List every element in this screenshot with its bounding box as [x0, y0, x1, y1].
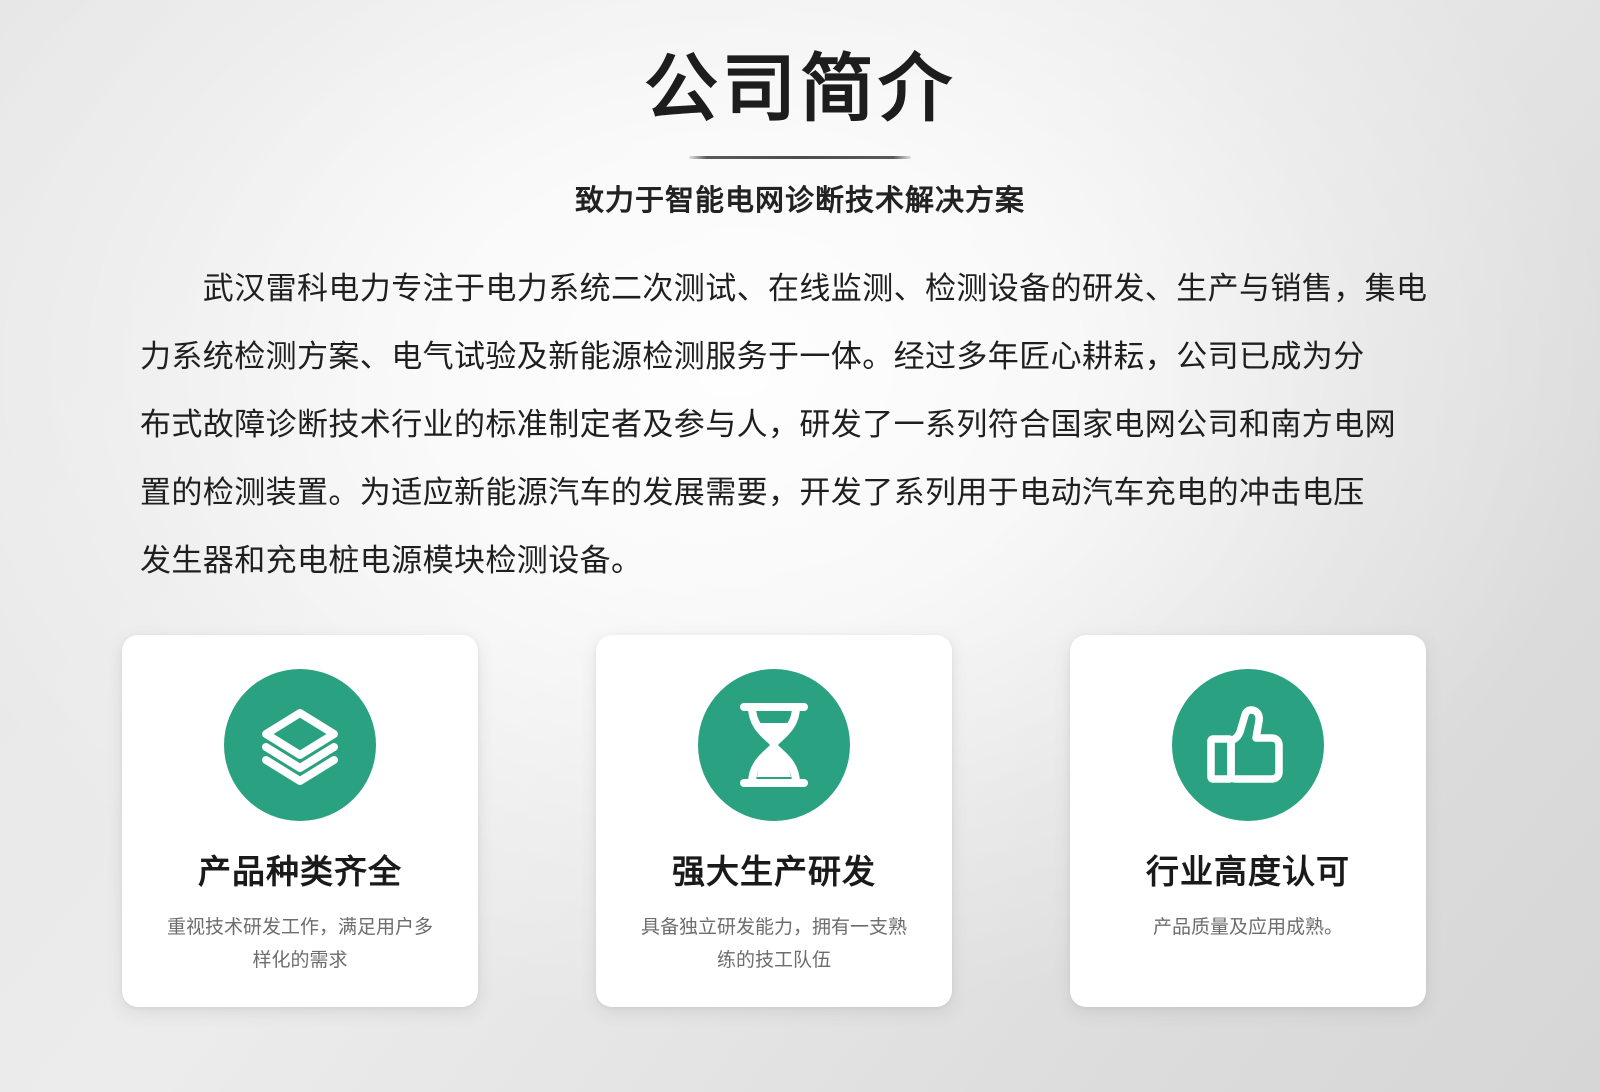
feature-card-description: 重视技术研发工作，满足用户多样化的需求: [161, 893, 439, 977]
hourglass-icon-badge: [698, 669, 850, 821]
intro-line: 置的检测装置。为适应新能源汽车的发展需要，开发了系列用于电动汽车充电的冲击电压: [140, 459, 1450, 527]
page-subtitle: 致力于智能电网诊断技术解决方案: [0, 159, 1600, 221]
company-intro-paragraph: 武汉雷科电力专注于电力系统二次测试、在线监测、检测设备的研发、生产与销售，集电 …: [140, 255, 1450, 595]
feature-card-title: 产品种类齐全: [198, 821, 402, 893]
intro-line: 发生器和充电桩电源模块检测设备。: [140, 527, 1450, 595]
feature-card-description: 产品质量及应用成熟。: [1109, 893, 1387, 944]
intro-line: 力系统检测方案、电气试验及新能源检测服务于一体。经过多年匠心耕耘，公司已成为分: [140, 323, 1450, 391]
feature-card-title: 行业高度认可: [1146, 821, 1350, 893]
feature-card-list: 产品种类齐全 重视技术研发工作，满足用户多样化的需求: [122, 635, 1426, 1007]
page-header: 公司简介 致力于智能电网诊断技术解决方案: [0, 0, 1600, 221]
feature-card-description: 具备独立研发能力，拥有一支熟练的技工队伍: [635, 893, 913, 977]
intro-line: 武汉雷科电力专注于电力系统二次测试、在线监测、检测设备的研发、生产与销售，集电: [140, 255, 1450, 323]
layers-icon-badge: [224, 669, 376, 821]
feature-card-products[interactable]: 产品种类齐全 重视技术研发工作，满足用户多样化的需求: [122, 635, 478, 1007]
thumbs-up-icon: [1202, 699, 1294, 791]
intro-line: 布式故障诊断技术行业的标准制定者及参与人，研发了一系列符合国家电网公司和南方电网: [140, 391, 1450, 459]
hourglass-icon: [730, 699, 818, 791]
page-title: 公司简介: [0, 0, 1600, 132]
company-profile-page: 公司简介 致力于智能电网诊断技术解决方案 武汉雷科电力专注于电力系统二次测试、在…: [0, 0, 1600, 1092]
layers-icon: [254, 699, 346, 791]
feature-card-rnd[interactable]: 强大生产研发 具备独立研发能力，拥有一支熟练的技工队伍: [596, 635, 952, 1007]
feature-card-recognition[interactable]: 行业高度认可 产品质量及应用成熟。: [1070, 635, 1426, 1007]
thumbs-up-icon-badge: [1172, 669, 1324, 821]
feature-card-title: 强大生产研发: [672, 821, 876, 893]
